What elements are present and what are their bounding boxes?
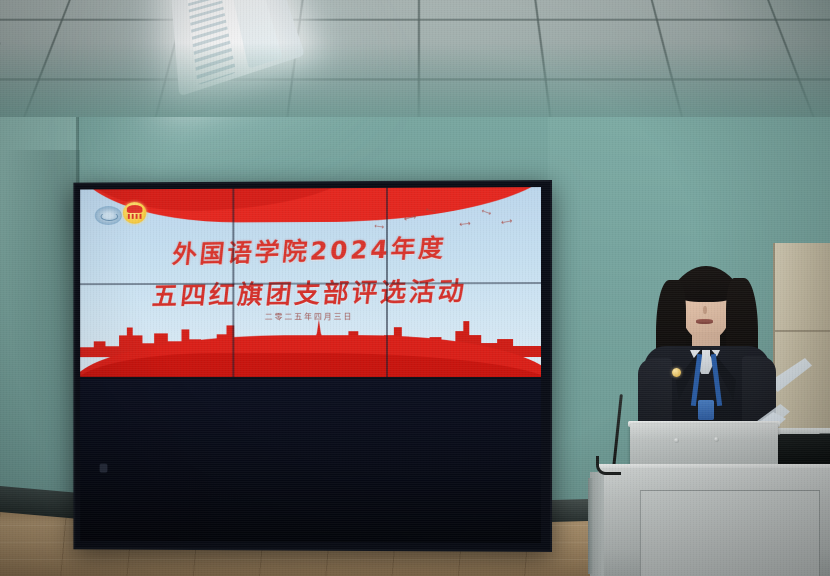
microphone-cable [596,456,621,475]
wall-shadow [0,150,80,480]
video-wall-display[interactable]: ⟷ ⟷ ⟷ ⟷ ⟷ ⟷ 外国语学院2024年度 五四红旗团支部评选活动 二零二五… [80,187,541,377]
ceiling-fade [0,0,830,117]
id-badge [698,400,714,420]
lectern-front-panel [640,490,820,576]
video-wall-lower-panel [80,379,541,543]
panel-screw [714,437,719,442]
gold-lapel-pin-icon [672,368,681,377]
ac-unit-seam [775,330,830,332]
lectern-side-edge [588,478,593,574]
communist-youth-league-badge-icon [123,202,146,224]
nose [703,306,707,314]
mouth [696,319,713,324]
panel-screw [674,438,679,443]
slide-title-line2: 五四红旗团支部评选活动 [80,270,541,314]
lcd-video-wall[interactable]: ⟷ ⟷ ⟷ ⟷ ⟷ ⟷ 外国语学院2024年度 五四红旗团支部评选活动 二零二五… [73,180,552,552]
meeting-room-photo: ⟷ ⟷ ⟷ ⟷ ⟷ ⟷ 外国语学院2024年度 五四红旗团支部评选活动 二零二五… [0,0,830,576]
university-emblem-icon [95,206,122,225]
suspended-ceiling [0,0,830,117]
panel-marker [100,464,108,473]
